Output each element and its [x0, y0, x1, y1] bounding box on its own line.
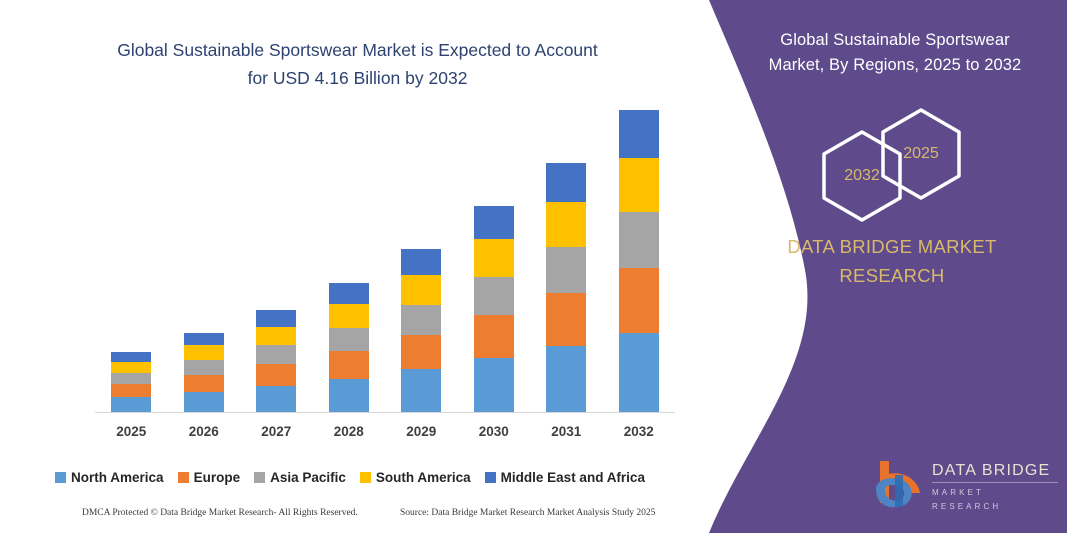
company-logo: DATA BRIDGE MARKET RESEARCH	[870, 455, 1060, 517]
infographic-page: Global Sustainable Sportswear Market is …	[0, 0, 1067, 533]
data-bridge-logo-icon	[870, 457, 928, 513]
hexagon-badge-2025: 2025	[871, 104, 971, 204]
bar-segment	[184, 333, 224, 346]
bar-segment	[184, 360, 224, 375]
bar-segment	[329, 379, 369, 412]
x-axis-label-2028: 2028	[314, 424, 384, 439]
legend-item-europe[interactable]: Europe	[178, 470, 241, 485]
logo-text-line-1: DATA BRIDGE	[932, 461, 1058, 483]
panel-heading-line-1: Global Sustainable Sportswear	[745, 28, 1045, 53]
bar-segment	[401, 335, 441, 370]
bar-segment	[184, 392, 224, 412]
bar-segment	[184, 345, 224, 360]
bar-segment	[401, 305, 441, 335]
bar-segment	[111, 397, 151, 412]
bar-segment	[474, 358, 514, 412]
bar-segment	[329, 304, 369, 328]
x-axis-label-2029: 2029	[386, 424, 456, 439]
bar-segment	[546, 202, 586, 247]
bar-segment	[546, 247, 586, 293]
x-axis-label-2032: 2032	[604, 424, 674, 439]
legend-swatch-icon	[360, 472, 371, 483]
bar-segment	[401, 369, 441, 412]
bar-segment	[619, 110, 659, 158]
bar-column-2027	[256, 310, 296, 412]
bar-segment	[256, 345, 296, 364]
bar-segment	[184, 375, 224, 392]
page-title-line-1: Global Sustainable Sportswear Market is …	[40, 36, 675, 64]
bar-column-2032	[619, 110, 659, 412]
bar-segment	[329, 283, 369, 304]
bar-segment	[619, 268, 659, 333]
year-hexagons: 2032 2025	[812, 104, 1012, 204]
x-axis-label-2027: 2027	[241, 424, 311, 439]
brand-name-line-1: DATA BRIDGE MARKET	[732, 232, 1052, 261]
bar-segment	[111, 352, 151, 362]
legend-item-north-america[interactable]: North America	[55, 470, 164, 485]
bar-segment	[619, 158, 659, 213]
stacked-bar-chart	[95, 110, 675, 413]
bar-segment	[256, 386, 296, 412]
legend-item-south-america[interactable]: South America	[360, 470, 471, 485]
footer-source: Source: Data Bridge Market Research Mark…	[400, 508, 655, 518]
bar-segment	[256, 364, 296, 386]
bar-segment	[256, 310, 296, 327]
bar-segment	[474, 206, 514, 239]
legend-item-middle-east-and-africa[interactable]: Middle East and Africa	[485, 470, 645, 485]
bar-segment	[111, 373, 151, 384]
bar-column-2029	[401, 249, 441, 412]
bar-segment	[401, 275, 441, 305]
footer-copyright: DMCA Protected © Data Bridge Market Rese…	[82, 508, 358, 518]
bar-segment	[546, 163, 586, 203]
bar-segment	[329, 328, 369, 352]
bar-column-2028	[329, 283, 369, 412]
bar-column-2030	[474, 206, 514, 412]
x-axis-labels: 20252026202720282029203020312032	[95, 424, 675, 444]
bar-segment	[619, 212, 659, 268]
bar-segment	[619, 333, 659, 412]
bar-segment	[401, 249, 441, 275]
page-title: Global Sustainable Sportswear Market is …	[40, 36, 675, 92]
legend-swatch-icon	[55, 472, 66, 483]
x-axis-label-2031: 2031	[531, 424, 601, 439]
x-axis-label-2025: 2025	[96, 424, 166, 439]
brand-name-line-2: RESEARCH	[732, 261, 1052, 290]
panel-heading: Global Sustainable Sportswear Market, By…	[745, 28, 1045, 78]
legend-label: Middle East and Africa	[501, 470, 645, 485]
legend-swatch-icon	[178, 472, 189, 483]
legend-label: Europe	[194, 470, 241, 485]
footer: DMCA Protected © Data Bridge Market Rese…	[0, 508, 700, 526]
bar-segment	[474, 315, 514, 359]
legend-swatch-icon	[485, 472, 496, 483]
x-axis-baseline	[95, 412, 675, 413]
legend-label: Asia Pacific	[270, 470, 346, 485]
bar-column-2026	[184, 333, 224, 412]
x-axis-label-2026: 2026	[169, 424, 239, 439]
bar-segment	[546, 293, 586, 347]
brand-name: DATA BRIDGE MARKET RESEARCH	[732, 232, 1052, 290]
legend-label: South America	[376, 470, 471, 485]
chart-panel: Global Sustainable Sportswear Market is …	[0, 0, 700, 533]
bar-segment	[111, 362, 151, 373]
bar-column-2025	[111, 352, 151, 412]
logo-text-line-2: MARKET RESEARCH	[932, 483, 1058, 514]
hexagon-label-2025: 2025	[871, 104, 971, 204]
legend-swatch-icon	[254, 472, 265, 483]
bar-segment	[474, 277, 514, 315]
chart-legend: North AmericaEuropeAsia PacificSouth Ame…	[0, 470, 700, 485]
bar-column-2031	[546, 163, 586, 412]
bar-segment	[474, 239, 514, 277]
bar-segment	[546, 346, 586, 412]
logo-wordmark: DATA BRIDGE MARKET RESEARCH	[932, 461, 1058, 514]
panel-heading-line-2: Market, By Regions, 2025 to 2032	[745, 53, 1045, 78]
legend-item-asia-pacific[interactable]: Asia Pacific	[254, 470, 346, 485]
bar-segment	[329, 351, 369, 379]
bar-segment	[256, 327, 296, 346]
page-title-line-2: for USD 4.16 Billion by 2032	[40, 64, 675, 92]
legend-label: North America	[71, 470, 164, 485]
x-axis-label-2030: 2030	[459, 424, 529, 439]
bar-segment	[111, 384, 151, 397]
brand-panel: Global Sustainable Sportswear Market, By…	[687, 0, 1067, 533]
